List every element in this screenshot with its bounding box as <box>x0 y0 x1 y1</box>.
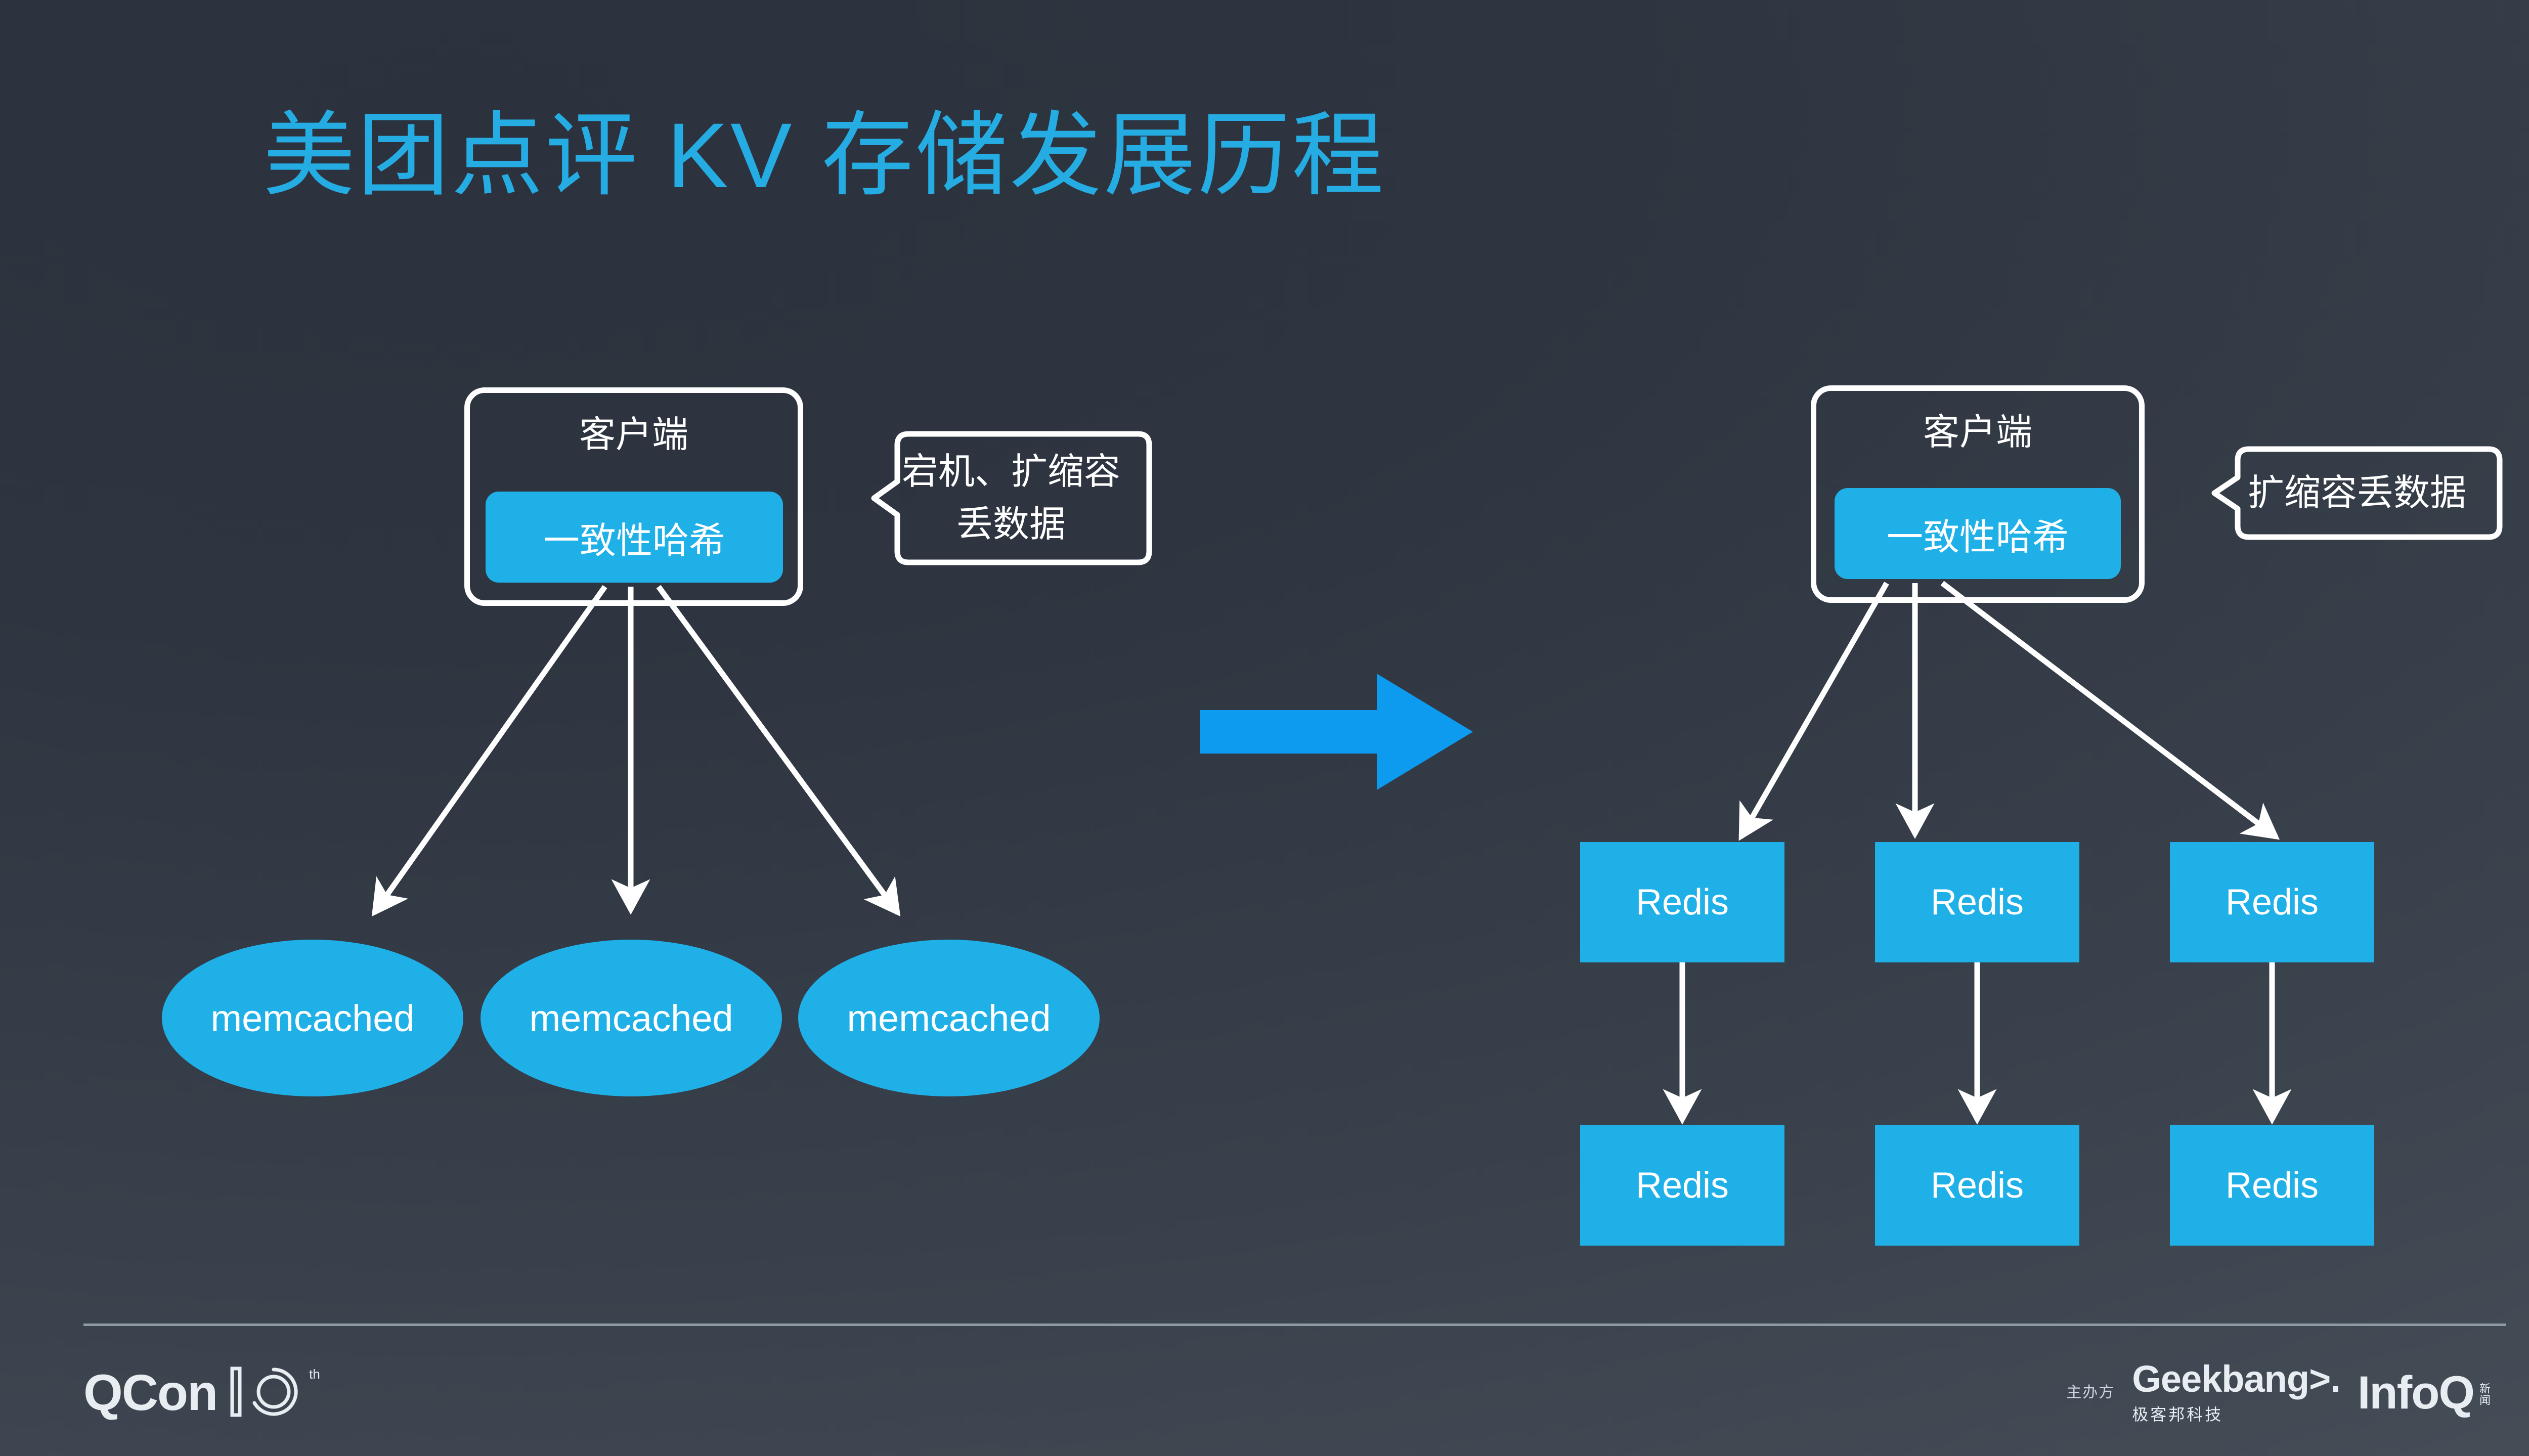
redis-replica-1: Redis <box>1580 1125 1784 1246</box>
qcon-wordmark: QCon <box>83 1367 217 1418</box>
qcon-anniversary-suffix: th <box>309 1367 320 1381</box>
infoq-logo: InfoQ 新闻 <box>2358 1370 2508 1416</box>
infoq-wordmark: InfoQ <box>2358 1370 2474 1416</box>
transition-right-arrow-icon <box>1200 674 1473 790</box>
geekbang-cn-name: 极客邦科技 <box>2132 1402 2223 1425</box>
sponsor-block: 主办方 Geekbang>. 极客邦科技 InfoQ 新闻 <box>2066 1360 2508 1425</box>
geekbang-logo: Geekbang>. 极客邦科技 <box>2132 1360 2340 1425</box>
slide-canvas: 美团点评 KV 存储发展历程 客户端 一致性哈希 宕机 <box>0 0 2529 1456</box>
memcached-node-1: memcached <box>162 940 463 1096</box>
qcon-anniversary-mark: th <box>230 1365 320 1418</box>
right-callout-bubble: 扩缩容丢数据 <box>2210 445 2504 541</box>
redis-replica-2: Redis <box>1875 1125 2079 1246</box>
memcached-node-3: memcached <box>798 940 1100 1096</box>
redis-master-2: Redis <box>1875 842 2079 962</box>
footer-divider <box>83 1323 2506 1326</box>
left-client-label: 客户端 <box>464 405 803 458</box>
redis-master-1: Redis <box>1580 842 1784 962</box>
qcon-logo: QCon th <box>83 1365 320 1418</box>
right-callout-text: 扩缩容丢数据 <box>2248 467 2466 519</box>
redis-master-3: Redis <box>2170 842 2374 962</box>
left-consistent-hash-box: 一致性哈希 <box>486 492 783 583</box>
geekbang-wordmark: Geekbang>. <box>2132 1360 2340 1398</box>
memcached-node-2: memcached <box>481 940 782 1096</box>
anniversary-10-icon <box>230 1365 306 1418</box>
right-client-label: 客户端 <box>1811 402 2145 455</box>
right-consistent-hash-box: 一致性哈希 <box>1835 488 2121 579</box>
infoq-suffix: 新闻 <box>2476 1383 2492 1406</box>
host-label: 主办方 <box>2066 1384 2115 1402</box>
redis-replica-3: Redis <box>2170 1125 2374 1246</box>
left-callout-text: 宕机、扩缩容 丢数据 <box>902 446 1120 551</box>
left-callout-bubble: 宕机、扩缩容 丢数据 <box>869 430 1153 566</box>
